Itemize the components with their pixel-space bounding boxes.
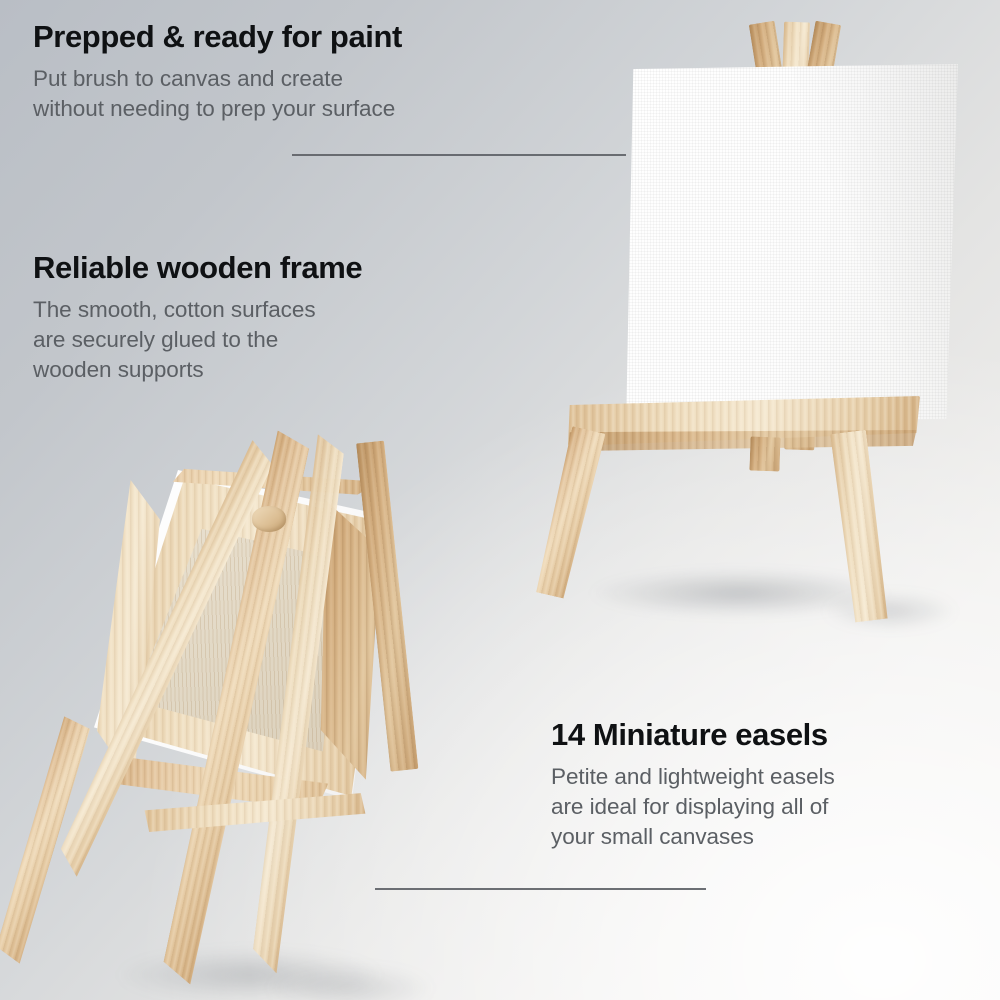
leader-line-prepped: [292, 154, 626, 156]
callout-prepped: Prepped & ready for paint Put brush to c…: [33, 19, 402, 124]
callout-prepped-heading: Prepped & ready for paint: [33, 19, 402, 55]
easel-with-canvas-back: [40, 420, 460, 1000]
callout-easels-body-line-3: your small canvases: [551, 822, 835, 852]
easel-with-canvas-front: [500, 0, 1000, 620]
callout-easels: 14 Miniature easels Petite and lightweig…: [551, 717, 835, 852]
callout-easels-body-line-1: Petite and lightweight easels: [551, 762, 835, 792]
callout-frame-heading: Reliable wooden frame: [33, 250, 362, 286]
easel-rear-leg-stub: [749, 436, 780, 471]
callout-prepped-body: Put brush to canvas and create without n…: [33, 64, 402, 124]
callout-frame-body-line-2: are securely glued to the: [33, 325, 362, 355]
blank-canvas-front: [626, 64, 958, 426]
callout-easels-body: Petite and lightweight easels are ideal …: [551, 762, 835, 852]
callout-prepped-body-line-2: without needing to prep your surface: [33, 94, 402, 124]
callout-easels-body-line-2: are ideal for displaying all of: [551, 792, 835, 822]
leader-line-easels: [375, 888, 706, 890]
infographic-stage: Prepped & ready for paint Put brush to c…: [0, 0, 1000, 1000]
callout-prepped-body-line-1: Put brush to canvas and create: [33, 64, 402, 94]
callout-frame-body: The smooth, cotton surfaces are securely…: [33, 295, 362, 385]
easel-shadow-secondary: [800, 586, 980, 636]
easel-dowel-peg: [252, 506, 286, 532]
callout-frame-body-line-3: wooden supports: [33, 355, 362, 385]
callout-easels-heading: 14 Miniature easels: [551, 717, 835, 753]
callout-frame-body-line-1: The smooth, cotton surfaces: [33, 295, 362, 325]
callout-frame: Reliable wooden frame The smooth, cotton…: [33, 250, 362, 385]
